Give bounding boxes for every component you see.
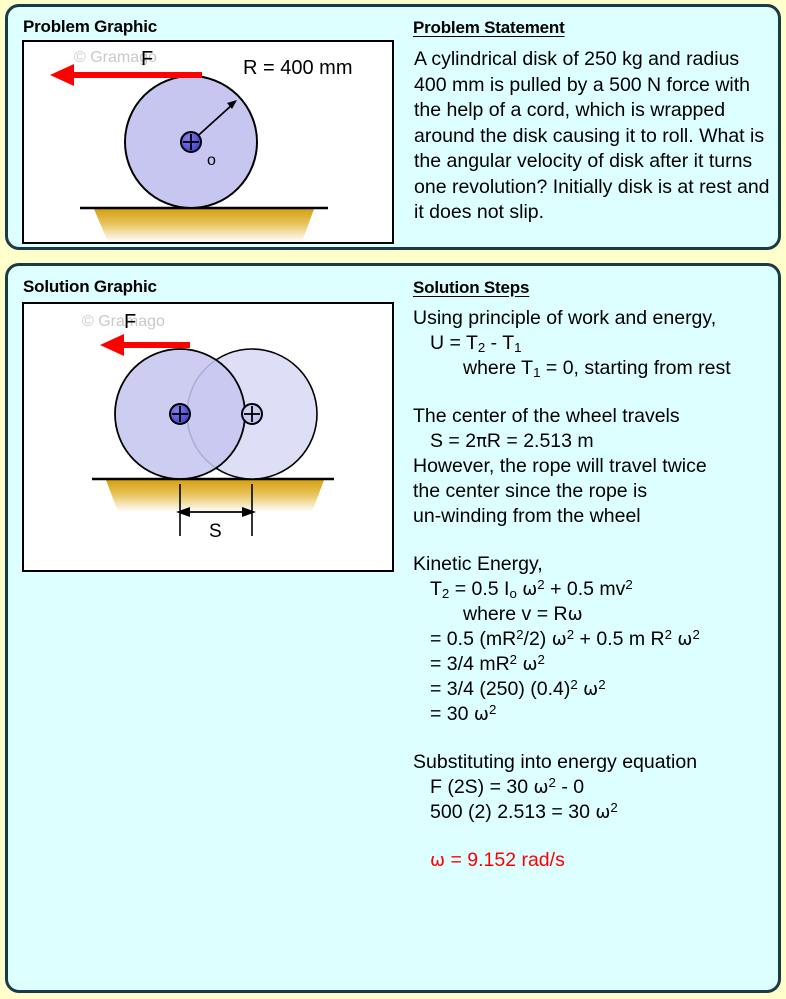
solution-step-line: Substituting into energy equation: [413, 750, 785, 775]
problem-graphic-title: Problem Graphic: [23, 17, 157, 37]
solution-step-line: Using principle of work and energy,: [413, 306, 785, 331]
solution-answer: ω = 9.152 rad/s: [413, 848, 785, 873]
solution-step-line: Kinetic Energy,: [413, 552, 785, 577]
solution-step-line: U = T2 - T1: [413, 331, 785, 356]
solution-step-line: where v = Rω: [413, 602, 785, 627]
solution-step-line: = 0.5 (mR2/2) ω2 + 0.5 m R2 ω2: [413, 627, 785, 652]
solution-step-line: The center of the wheel travels: [413, 404, 785, 429]
solution-graphic-title: Solution Graphic: [23, 277, 157, 297]
problem-statement-title: Problem Statement: [413, 18, 565, 38]
solution-figure: © Gramago: [22, 302, 394, 572]
step-spacer: [413, 529, 785, 552]
solution-panel: Solution Graphic: [5, 263, 781, 993]
solution-step-line: S = 2πR = 2.513 m: [413, 429, 785, 454]
problem-statement-text: A cylindrical disk of 250 kg and radius …: [414, 47, 774, 226]
ground-fill: [94, 209, 314, 242]
force-label: F: [141, 48, 153, 70]
center-label: o: [207, 152, 216, 169]
solution-diagram-svg: © Gramago: [24, 304, 392, 570]
problem-diagram-svg: © Gramago: [24, 42, 392, 242]
ground-fill: [106, 480, 324, 512]
solution-step-line: = 30 ω2: [413, 702, 785, 727]
solution-step-line: where T1 = 0, starting from rest: [413, 356, 785, 381]
solution-step-line: = 3/4 mR2 ω2: [413, 652, 785, 677]
force-label: F: [124, 311, 136, 333]
solution-step-line: the center since the rope is: [413, 479, 785, 504]
radius-label: R = 400 mm: [243, 57, 352, 79]
center-marker: [181, 132, 201, 152]
solution-step-line: = 3/4 (250) (0.4)2 ω2: [413, 677, 785, 702]
step-spacer: [413, 825, 785, 848]
problem-figure: © Gramago: [22, 40, 394, 244]
solution-steps-title: Solution Steps: [413, 278, 529, 298]
step-spacer: [413, 727, 785, 750]
center-marker-initial: [170, 404, 190, 424]
solution-step-line: un-winding from the wheel: [413, 504, 785, 529]
solution-steps-column: Solution Steps Using principle of work a…: [400, 266, 778, 990]
solution-step-line: T2 = 0.5 Io ω2 + 0.5 mv2: [413, 577, 785, 602]
solution-step-line: F (2S) = 30 ω2 - 0: [413, 775, 785, 800]
problem-graphic-column: Problem Graphic: [8, 7, 400, 247]
worksheet-page: Problem Graphic: [0, 0, 786, 999]
solution-steps-list: Using principle of work and energy,U = T…: [413, 306, 785, 873]
solution-step-line: However, the rope will travel twice: [413, 454, 785, 479]
distance-label: S: [209, 521, 222, 542]
step-spacer: [413, 381, 785, 404]
center-marker-final: [242, 404, 262, 424]
solution-step-line: 500 (2) 2.513 = 30 ω2: [413, 800, 785, 825]
problem-panel: Problem Graphic: [5, 4, 781, 250]
problem-statement-column: Problem Statement A cylindrical disk of …: [400, 7, 778, 247]
solution-graphic-column: Solution Graphic: [8, 266, 400, 990]
